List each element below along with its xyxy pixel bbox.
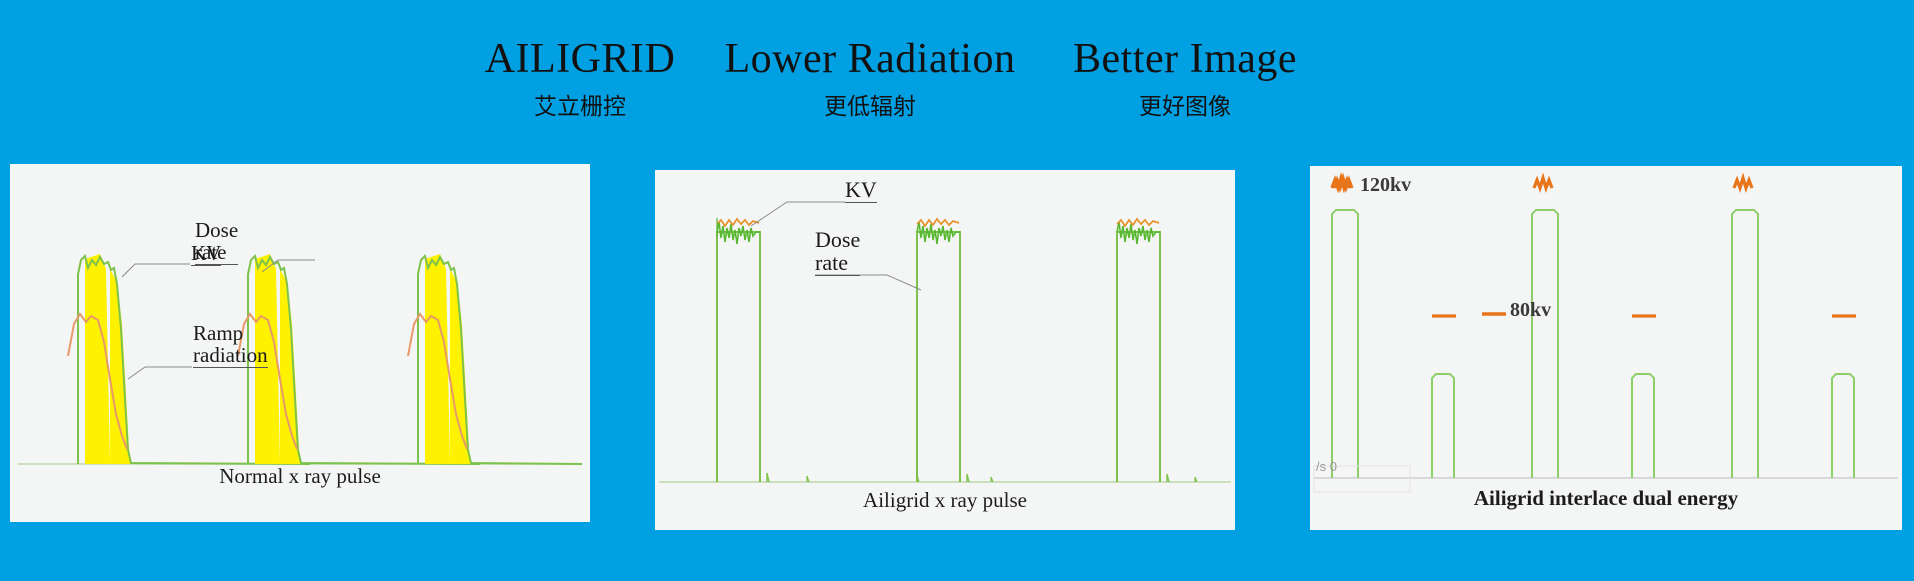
kv-noise-cap-2 [917,219,959,226]
ailigrid-x-ray-pulse-plot [655,170,1235,530]
pulse-120kv-2 [1532,210,1558,478]
pulse-group-1 [717,218,760,482]
header-title-cn-0: 艾立栅控 [430,96,730,119]
burst-marker-icon-3 [1734,178,1752,188]
header-group-lower-radiation: Lower Radiation 更低辐射 [700,38,1040,119]
pulse-80kv-3 [1832,374,1854,478]
panel-caption-dual-energy: Ailigrid interlace dual energy [1310,486,1902,511]
annotation-dose-rate: Dose rate [195,219,238,265]
ailigrid-interlace-dual-energy-plot [1310,166,1902,530]
leader-line-kv [751,202,845,226]
pulse-group-3 [408,254,582,464]
header-banner: AILIGRID 艾立栅控 Lower Radiation 更低辐射 Bette… [0,0,1914,150]
pulse-group-2 [917,219,960,482]
dose-rate-pulse-1 [717,232,760,482]
baseline-tick-4 [967,474,969,482]
header-title-en-2: Better Image [1035,38,1335,80]
annotation-dose-rate: Dose rate [815,228,860,276]
chart-panel-normal-x-ray-pulse: KV Dose rate Ramp radiation Normal x ray… [10,164,590,522]
header-title-en-0: AILIGRID [430,38,730,80]
pulse-80kv-2 [1632,374,1654,478]
kv-noise-cap-3 [1117,219,1159,226]
baseline-tick-6 [1167,474,1169,482]
legend-label-80kv: 80kv [1510,299,1551,322]
chart-panel-ailigrid-interlace-dual-energy: 120kv 80kv /s 0 Ailigrid interlace dual … [1310,166,1902,530]
pulse-120kv-1 [1332,210,1358,478]
burst-marker-icon-2 [1534,178,1552,188]
panel-caption-ailigrid: Ailigrid x ray pulse [655,488,1235,513]
dose-rate-pulse-2 [917,232,960,482]
pulse-80kv-1 [1432,374,1454,478]
pulse-120kv-3 [1732,210,1758,478]
header-group-better-image: Better Image 更好图像 [1035,38,1335,119]
annotation-ramp-radiation: Ramp radiation [193,322,268,368]
panel-caption-normal: Normal x ray pulse [10,464,590,489]
annotation-kv: KV [845,178,877,203]
legend-label-120kv: 120kv [1360,174,1411,197]
header-title-en-1: Lower Radiation [700,38,1040,80]
dose-rate-pulse-3 [1117,232,1160,482]
leader-line-dose-rate [815,275,921,290]
chart-panel-ailigrid-x-ray-pulse: KV Dose rate Ailigrid x ray pulse [655,170,1235,530]
axis-tick-label: /s 0 [1316,459,1337,474]
header-title-cn-2: 更好图像 [1035,96,1335,119]
header-group-ailigrid: AILIGRID 艾立栅控 [430,38,730,119]
baseline-tick-2 [807,476,809,482]
leader-line-kv [122,264,190,277]
leader-line-ramp-radiation [128,367,192,379]
pulse-group-3 [1117,219,1160,482]
header-title-cn-1: 更低辐射 [700,96,1040,119]
baseline-tick-1 [767,473,769,482]
